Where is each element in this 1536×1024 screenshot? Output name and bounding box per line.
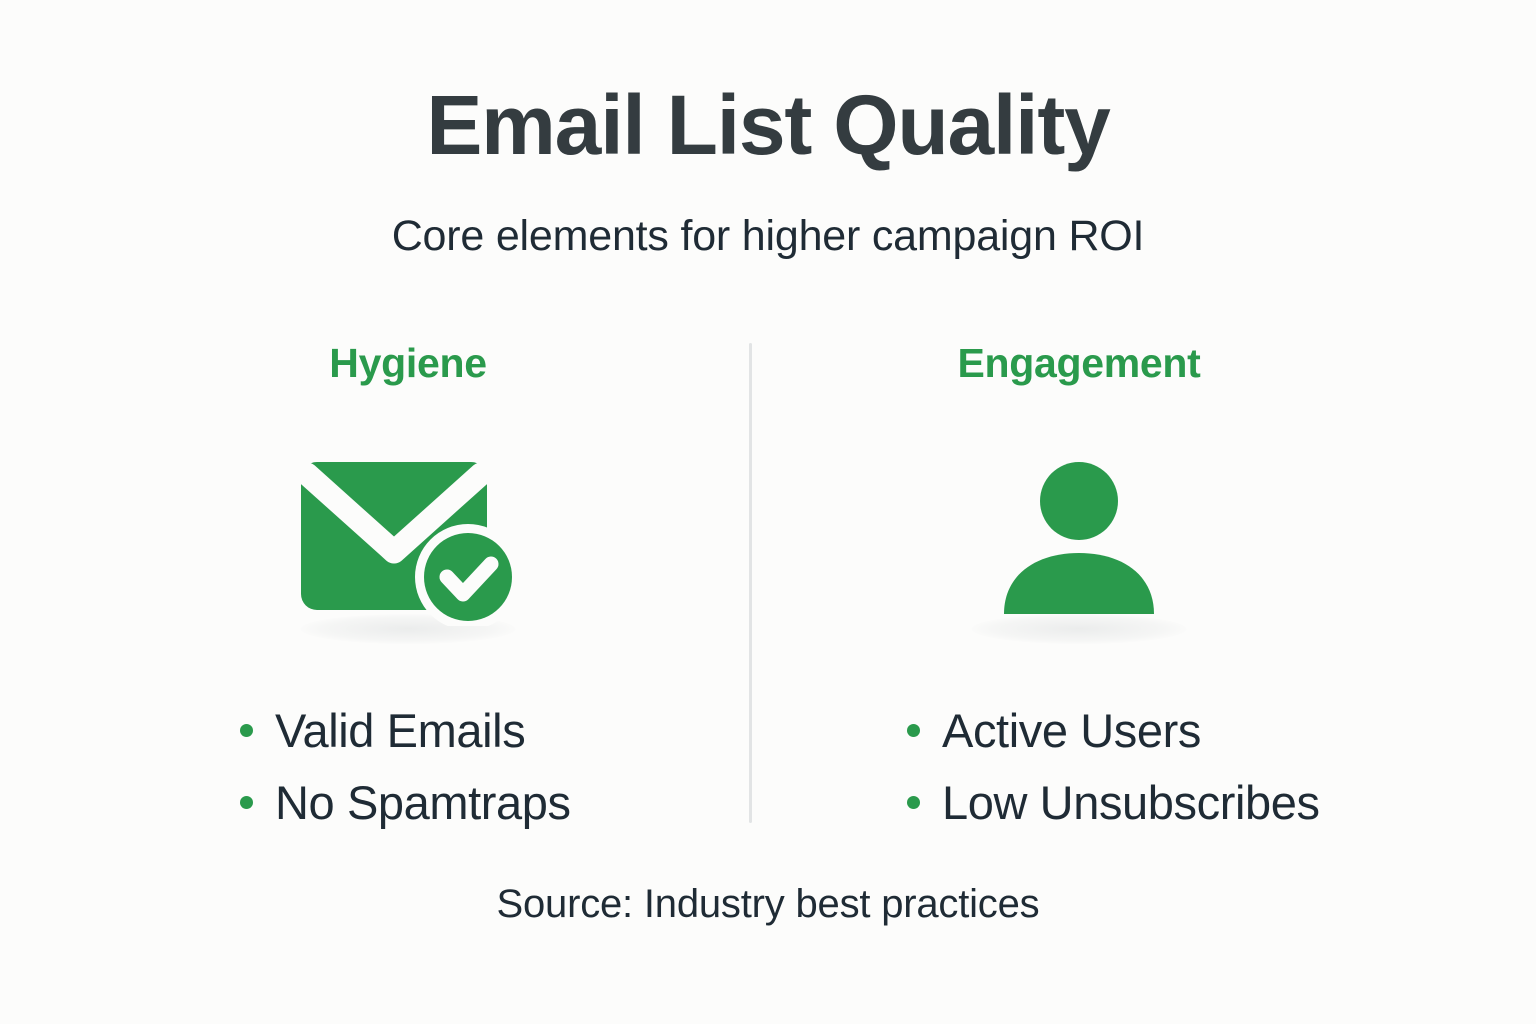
list-item: Active Users xyxy=(907,694,1359,766)
list-item: Low Unsubscribes xyxy=(907,766,1359,838)
bullet-dot-icon xyxy=(907,796,920,809)
column-heading-hygiene: Hygiene xyxy=(128,340,688,400)
infographic-canvas: Email List Quality Core elements for hig… xyxy=(0,0,1536,1024)
bullet-label: Valid Emails xyxy=(275,703,525,758)
icon-container-hygiene xyxy=(128,456,688,656)
column-divider xyxy=(749,343,752,823)
bullet-label: Low Unsubscribes xyxy=(942,775,1320,830)
bullet-dot-icon xyxy=(240,796,253,809)
page-title: Email List Quality xyxy=(0,80,1536,171)
bullet-dot-icon xyxy=(240,724,253,737)
envelope-check-icon xyxy=(293,456,523,626)
bullet-dot-icon xyxy=(907,724,920,737)
person-icon xyxy=(964,456,1194,626)
column-hygiene: Hygiene Valid Emails xyxy=(128,340,688,838)
bullet-label: No Spamtraps xyxy=(275,775,571,830)
column-heading-engagement: Engagement xyxy=(799,340,1359,400)
bullet-list-hygiene: Valid Emails No Spamtraps xyxy=(128,694,688,838)
page-subtitle: Core elements for higher campaign ROI xyxy=(0,212,1536,261)
bullet-list-engagement: Active Users Low Unsubscribes xyxy=(799,694,1359,838)
source-note: Source: Industry best practices xyxy=(0,882,1536,927)
list-item: Valid Emails xyxy=(240,694,688,766)
list-item: No Spamtraps xyxy=(240,766,688,838)
bullet-label: Active Users xyxy=(942,703,1201,758)
icon-container-engagement xyxy=(799,456,1359,656)
column-engagement: Engagement Active Users Low Unsubscribes xyxy=(799,340,1359,838)
